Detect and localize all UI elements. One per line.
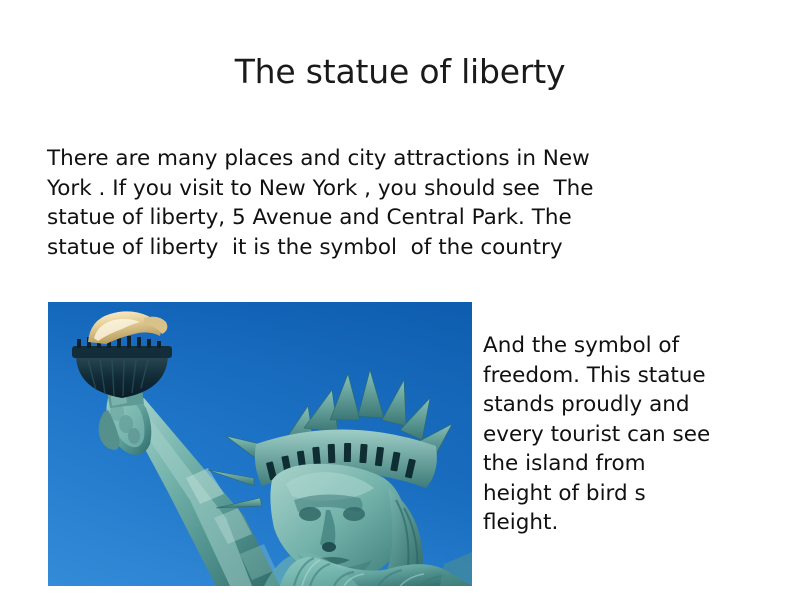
intro-paragraph-line: statue of liberty it is the symbol of th…	[47, 233, 737, 263]
side-paragraph-line: freedom. This statue	[483, 361, 793, 391]
intro-paragraph-line: York . If you visit to New York , you sh…	[47, 174, 737, 204]
intro-paragraph: There are many places and city attractio…	[47, 144, 737, 262]
intro-paragraph-line: statue of liberty, 5 Avenue and Central …	[47, 203, 737, 233]
side-paragraph-line: fleight.	[483, 508, 793, 538]
intro-paragraph-line: There are many places and city attractio…	[47, 144, 737, 174]
statue-of-liberty-photo	[48, 302, 472, 586]
side-paragraph-line: And the symbol of	[483, 331, 793, 361]
side-paragraph-line: every tourist can see	[483, 420, 793, 450]
statue-of-liberty-illustration	[48, 302, 472, 586]
slide-title: The statue of liberty	[0, 52, 800, 92]
side-paragraph: And the symbol of freedom. This statue s…	[483, 331, 793, 538]
presentation-slide: The statue of liberty There are many pla…	[0, 0, 800, 600]
side-paragraph-line: the island from	[483, 449, 793, 479]
side-paragraph-line: stands proudly and	[483, 390, 793, 420]
side-paragraph-line: height of bird s	[483, 479, 793, 509]
